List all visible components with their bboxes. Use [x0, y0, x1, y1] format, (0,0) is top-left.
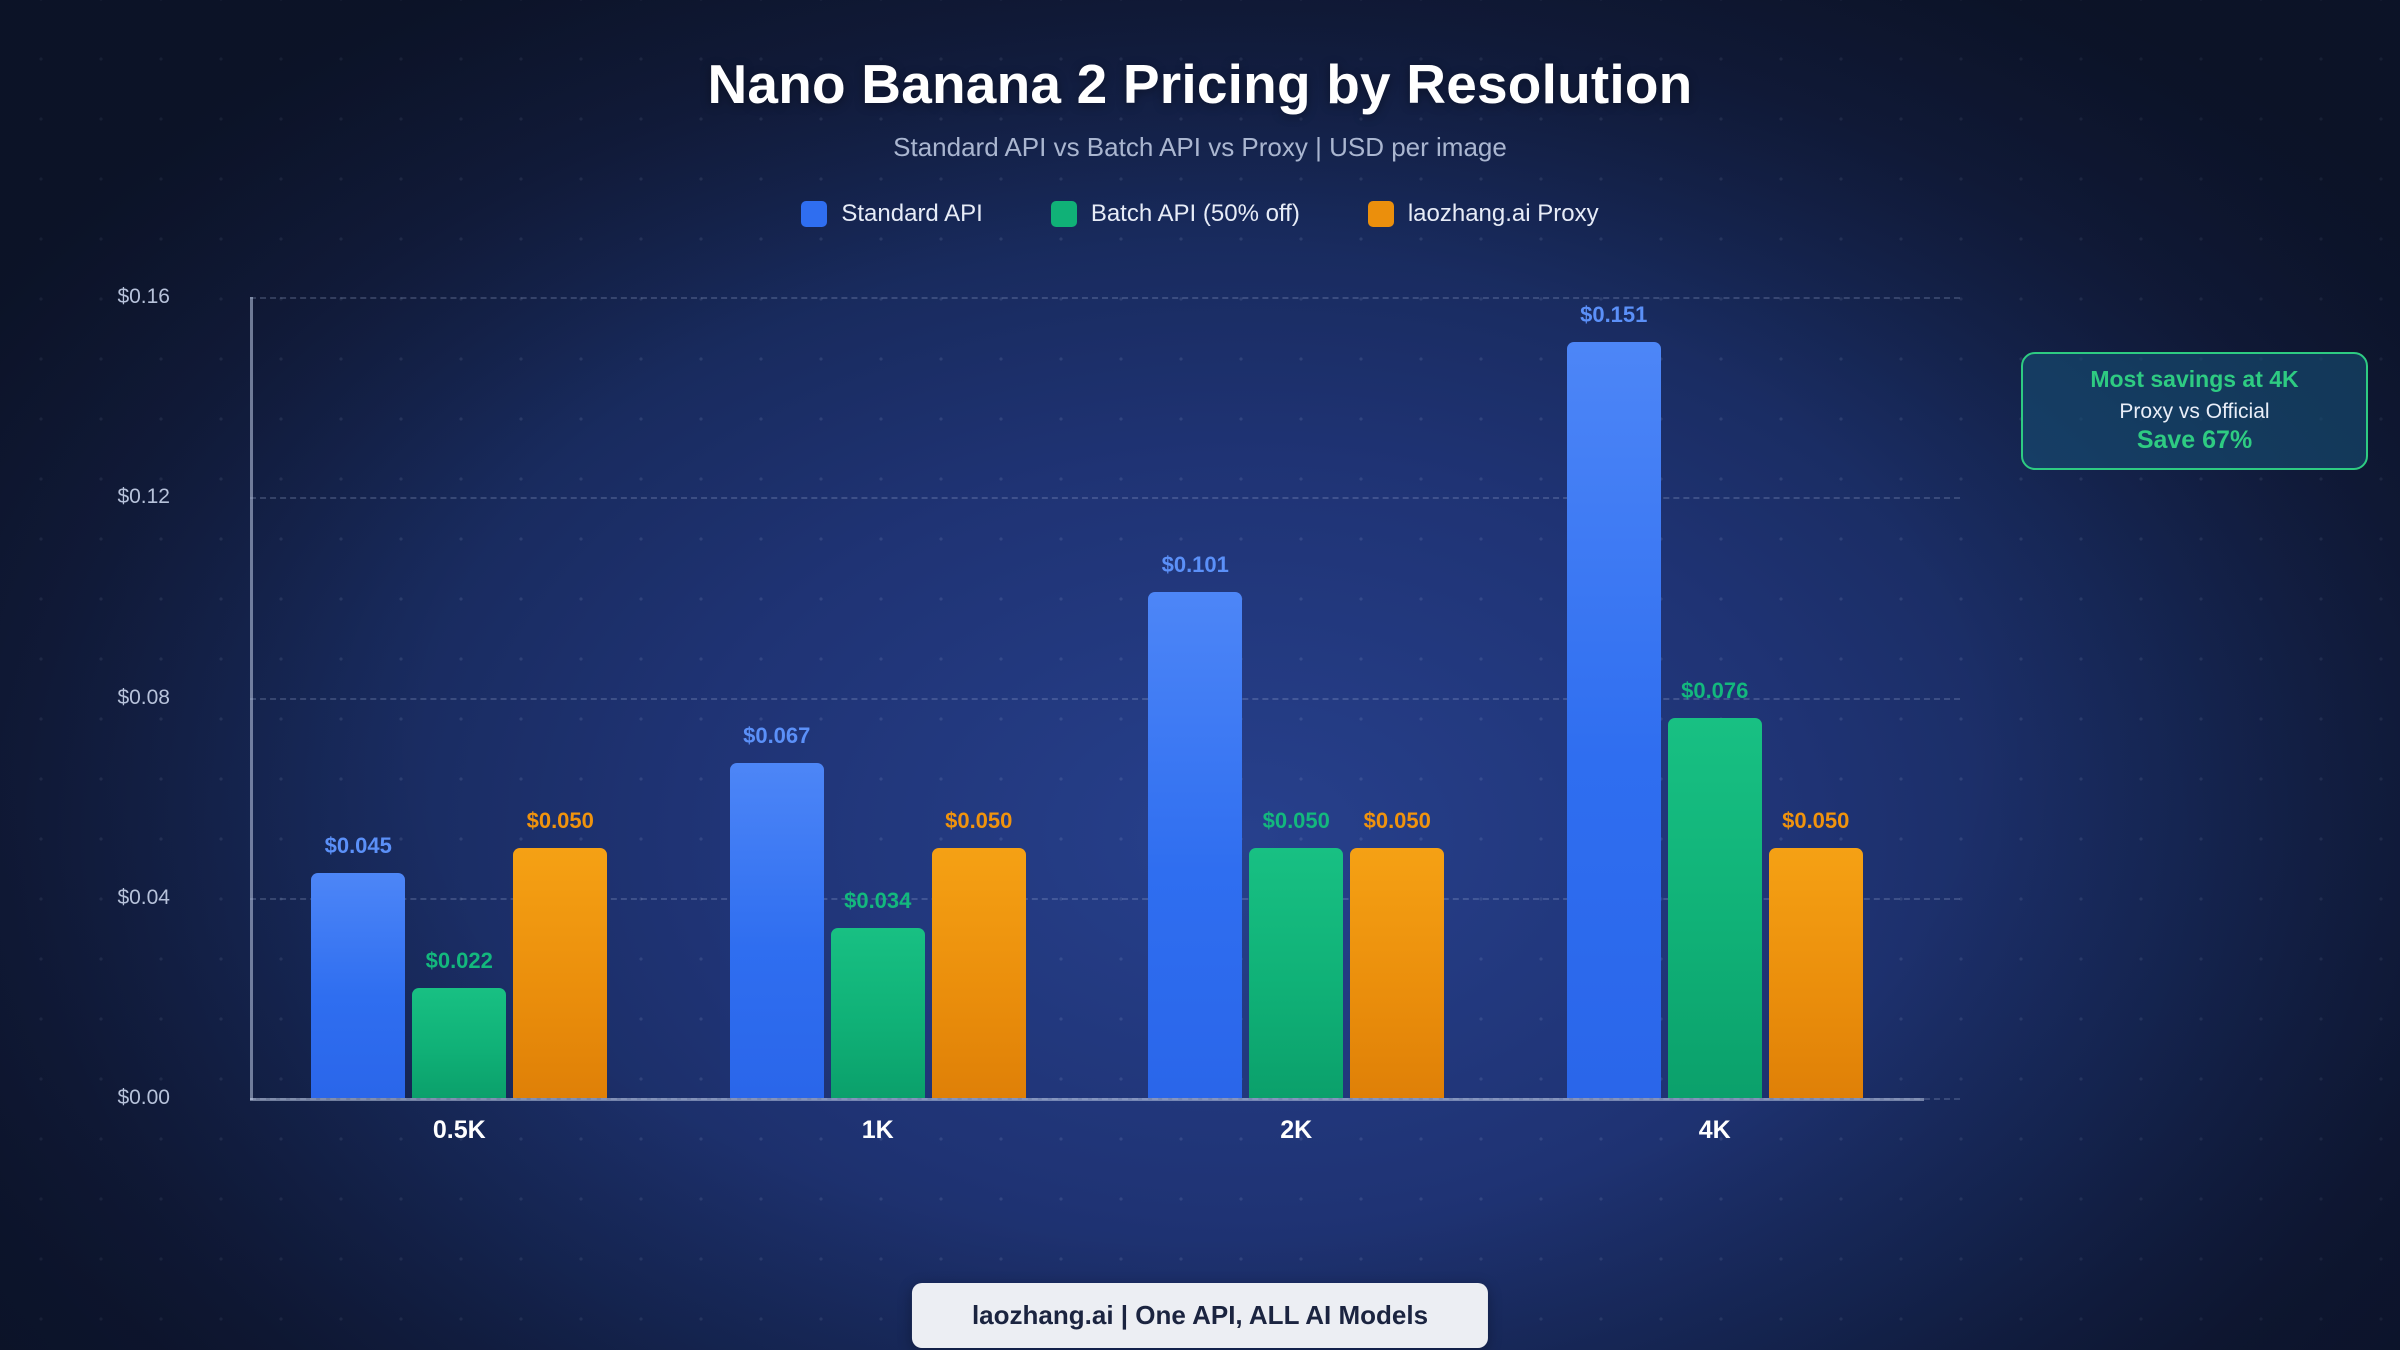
bar-2K-1[interactable]: $0.050	[1249, 848, 1343, 1098]
legend-label-2: laozhang.ai Proxy	[1408, 200, 1599, 228]
bar-value-label-1K-2: $0.050	[945, 808, 1012, 834]
bar-group-0.5K: $0.045$0.022$0.050	[250, 297, 669, 1098]
x-axis-labels: 0.5K1K2K4K	[250, 1116, 1924, 1176]
chart-legend: Standard APIBatch API (50% off)laozhang.…	[0, 200, 2400, 228]
bar-0.5K-2[interactable]: $0.050	[513, 848, 607, 1098]
bar-group-1K: $0.067$0.034$0.050	[669, 297, 1088, 1098]
legend-item-2[interactable]: laozhang.ai Proxy	[1368, 200, 1599, 228]
annotation-subtitle: Proxy vs Official	[2119, 400, 2269, 423]
x-axis-tick-label-2K: 2K	[1280, 1116, 1312, 1145]
bar-value-label-4K-0: $0.151	[1580, 302, 1647, 328]
footer-badge: laozhang.ai | One API, ALL AI Models	[912, 1283, 1488, 1348]
bar-value-label-0.5K-1: $0.022	[426, 948, 493, 974]
bar-1K-0[interactable]: $0.067	[730, 763, 824, 1098]
bars-layer: $0.045$0.022$0.050$0.067$0.034$0.050$0.1…	[250, 297, 1924, 1098]
bar-1K-2[interactable]: $0.050	[932, 848, 1026, 1098]
annotation-title: Most savings at 4K	[2090, 367, 2298, 392]
x-axis-line	[250, 1098, 1924, 1101]
chart-subtitle: Standard API vs Batch API vs Proxy | USD…	[0, 132, 2400, 163]
chart-title: Nano Banana 2 Pricing by Resolution	[0, 52, 2400, 116]
bar-0.5K-0[interactable]: $0.045	[311, 873, 405, 1098]
x-axis-tick-label-1K: 1K	[862, 1116, 894, 1145]
bar-4K-1[interactable]: $0.076	[1668, 718, 1762, 1098]
legend-swatch-icon-2	[1368, 201, 1394, 227]
bar-value-label-4K-2: $0.050	[1782, 808, 1849, 834]
bar-value-label-2K-2: $0.050	[1364, 808, 1431, 834]
y-axis-tick-label-3: $0.12	[117, 485, 170, 509]
savings-annotation-box: Most savings at 4K Proxy vs Official Sav…	[2021, 352, 2368, 470]
y-axis-tick-label-4: $0.16	[117, 285, 170, 309]
bar-value-label-0.5K-2: $0.050	[527, 808, 594, 834]
bar-value-label-4K-1: $0.076	[1681, 678, 1748, 704]
bar-value-label-2K-1: $0.050	[1263, 808, 1330, 834]
bar-2K-0[interactable]: $0.101	[1148, 592, 1242, 1098]
annotation-value: Save 67%	[2137, 427, 2252, 455]
legend-item-1[interactable]: Batch API (50% off)	[1051, 200, 1300, 228]
bar-value-label-2K-0: $0.101	[1162, 552, 1229, 578]
bar-group-2K: $0.101$0.050$0.050	[1087, 297, 1506, 1098]
legend-label-1: Batch API (50% off)	[1091, 200, 1300, 228]
bar-1K-1[interactable]: $0.034	[831, 928, 925, 1098]
bar-4K-2[interactable]: $0.050	[1769, 848, 1863, 1098]
x-axis-tick-label-0.5K: 0.5K	[433, 1116, 486, 1145]
y-axis-labels: $0.00$0.04$0.08$0.12$0.16	[0, 0, 240, 1350]
y-axis-tick-label-0: $0.00	[117, 1086, 170, 1110]
bar-group-4K: $0.151$0.076$0.050	[1506, 297, 1925, 1098]
y-axis-tick-label-1: $0.04	[117, 886, 170, 910]
bar-4K-0[interactable]: $0.151	[1567, 342, 1661, 1098]
bar-value-label-1K-0: $0.067	[743, 723, 810, 749]
bar-value-label-1K-1: $0.034	[844, 888, 911, 914]
bar-value-label-0.5K-0: $0.045	[325, 833, 392, 859]
chart-header: Nano Banana 2 Pricing by Resolution Stan…	[0, 52, 2400, 163]
bar-2K-2[interactable]: $0.050	[1350, 848, 1444, 1098]
footer-badge-text: laozhang.ai | One API, ALL AI Models	[972, 1300, 1428, 1331]
legend-item-0[interactable]: Standard API	[801, 200, 982, 228]
legend-swatch-icon-0	[801, 201, 827, 227]
legend-swatch-icon-1	[1051, 201, 1077, 227]
y-axis-tick-label-2: $0.08	[117, 686, 170, 710]
x-axis-tick-label-4K: 4K	[1699, 1116, 1731, 1145]
legend-label-0: Standard API	[841, 200, 982, 228]
bar-0.5K-1[interactable]: $0.022	[412, 988, 506, 1098]
